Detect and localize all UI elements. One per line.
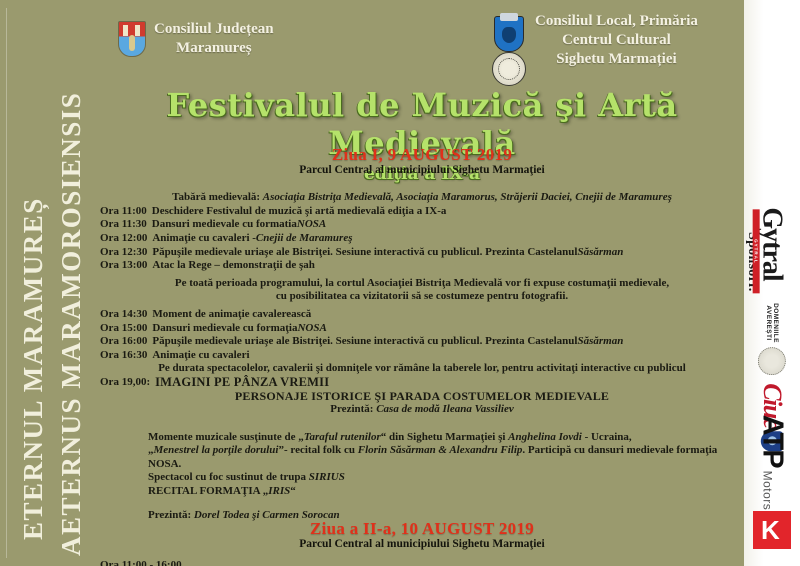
- gytral-tagline-bar: GYTRAL: [753, 209, 760, 293]
- coa-tower-right: [135, 25, 140, 36]
- local-council-emblems: [490, 12, 526, 84]
- day1-item-4-time: Ora 13:00: [100, 259, 152, 273]
- day1-item2-1-time: Ora 15:00: [100, 322, 152, 336]
- day1-item2-0-time: Ora 14:30: [100, 308, 152, 322]
- day1-item-2-text: Animaţie cu cavaleri -: [152, 232, 256, 246]
- day1-note-2: cu posibilitatea ca vizitatorii să se co…: [100, 290, 744, 304]
- day1-item-3-time: Ora 12:30: [100, 246, 152, 260]
- day2-venue: Parcul Central al municipiului Sighetu M…: [100, 538, 744, 552]
- coa-bison: [502, 27, 516, 43]
- coa-crown: [500, 13, 518, 21]
- music-l1-b: “ din Sighetu Marmaţiei şi: [381, 431, 508, 443]
- day1-evening-presenter-label: Prezintă:: [330, 403, 373, 415]
- day1-item2-2-time: Ora 16:00: [100, 335, 152, 349]
- day1-evening-time: Ora 19,00:: [100, 376, 155, 390]
- averesti-line1: DOMENIILE: [772, 303, 780, 343]
- music-l1-c: - Ucraina,: [582, 431, 632, 443]
- left-vertical-band: ETERNUL MARAMUREȘ AETERNUS MARAMOROSIENS…: [0, 0, 100, 566]
- day1-item2-3-time: Ora 16:30: [100, 349, 152, 363]
- day1-item-2: Ora 12:00 Animaţie cu cavaleri - Cnejii …: [100, 232, 744, 246]
- day1-music-line1: Momente muzicale susţinute de „Taraful r…: [148, 431, 744, 445]
- day1-camp-label: Tabără medievală:: [172, 191, 260, 203]
- day1-item-4-text: Atac la Rege – demonstraţii de şah: [152, 259, 315, 273]
- day1-item2-1-emphasis: NOSA: [297, 322, 326, 336]
- atp-wordmark: ATP: [758, 414, 787, 467]
- music-l2-it1: Menestrel la porţile dorului: [154, 444, 279, 456]
- day1-item-3: Ora 12:30 Păpuşile medievale uriaşe ale …: [100, 246, 744, 260]
- day1-music-line2: „Menestrel la porţile dorului”- recital …: [148, 444, 744, 471]
- day1-item-1: Ora 11:30 Dansuri medievale cu formatia …: [100, 218, 744, 232]
- program-content: Ziua I, 9 AUGUST 2019 Parcul Central al …: [100, 148, 744, 566]
- local-council-line2: Centrul Cultural: [535, 31, 698, 50]
- music-l1-a: Momente muzicale susţinute de „: [148, 431, 304, 443]
- averesti-wordmark: DOMENIILE AVEREȘTI: [765, 303, 780, 343]
- day1-item2-2-emphasis: Săsărman: [577, 335, 623, 349]
- day1-item-1-time: Ora 11:30: [100, 218, 152, 232]
- day1-evening-title: IMAGINI PE PÂNZA VREMII: [155, 376, 329, 390]
- k-sidetext: [756, 517, 760, 518]
- day1-item-3-text: Păpuşile medievale uriaşe ale Bistriţei.…: [152, 246, 577, 260]
- music-l3-a: Spectacol cu foc sustinut de trupa: [148, 471, 309, 483]
- sponsor-logo-gytral: Gytral GYTRAL: [744, 196, 800, 292]
- music-l3-it: SIRIUS: [309, 471, 345, 483]
- k-glyph: ⁠K: [761, 516, 780, 544]
- day1-item-3-emphasis: Săsărman: [577, 246, 623, 260]
- sponsor-logo-atp-motors: ATP Motors: [744, 412, 800, 512]
- day1-item-0: Ora 11:00 Deschidere Festivalul de muzic…: [100, 205, 744, 219]
- day1-item2-0: Ora 14:30 Moment de animaţie cavalereasc…: [100, 308, 744, 322]
- day1-evening-presenter-line: Prezintă: Casa de modă Ileana Vassiliev: [100, 403, 744, 417]
- local-council-line3: Sighetu Marmației: [535, 50, 698, 69]
- day1-venue: Parcul Central al municipiului Sighetu M…: [100, 164, 744, 178]
- wine-seal-icon: [758, 347, 786, 375]
- music-l1-it1: Taraful rutenilor: [304, 431, 381, 443]
- day1-item-1-text: Dansuri medievale cu formatia: [152, 218, 297, 232]
- day1-item2-0-text: Moment de animaţie cavalerească: [152, 308, 311, 322]
- day1-music-line4: RECITAL FORMAŢIA „IRIS“: [148, 485, 744, 499]
- day1-item2-3-text: Animaţie cu cavaleri: [152, 349, 249, 363]
- day1-item-2-time: Ora 12:00: [100, 232, 152, 246]
- county-council-label: Consiliul Județean Maramureș: [154, 20, 274, 58]
- averesti-line2: AVEREȘTI: [765, 303, 773, 343]
- festival-poster: ETERNUL MARAMUREȘ AETERNUS MARAMOROSIENS…: [0, 0, 800, 566]
- county-council-line2: Maramureș: [154, 39, 274, 58]
- day1-item-1-emphasis: NOSA: [297, 218, 326, 232]
- day1-camp-groups: Asociaţia Bistriţa Medievală, Asociaţia …: [263, 191, 672, 203]
- left-band-divider: [6, 8, 7, 558]
- local-council-label: Consiliul Local, Primăria Centrul Cultur…: [535, 12, 698, 69]
- coa-tower-left: [123, 25, 128, 36]
- music-l4-a: RECITAL FORMAŢIA „: [148, 485, 268, 497]
- day1-note-3: Pe durata spectacolelor, cavalerii şi do…: [100, 362, 744, 376]
- sponsor-logo-domeniile-averesti: DOMENIILE AVEREȘTI: [744, 300, 800, 378]
- music-l2-b: ”- recital folk cu: [279, 444, 358, 456]
- day1-evening-row: Ora 19,00: IMAGINI PE PÂNZA VREMII: [100, 376, 744, 390]
- day2-time-range: Ora 11:00 - 16:00: [100, 559, 744, 566]
- day1-item2-1: Ora 15:00 Dansuri medievale cu formaţia …: [100, 322, 744, 336]
- sponsors-band: Sponsori: Gytral GYTRAL DOMENIILE AVEREȘ…: [744, 0, 800, 566]
- maramures-county-coat-of-arms-icon: [118, 21, 146, 57]
- day1-note-1: Pe toată perioada programului, la cortul…: [100, 277, 744, 291]
- day1-item-2-emphasis: Cnejii de Maramureş: [256, 232, 353, 246]
- gytral-tagline: GYTRAL: [753, 209, 760, 293]
- music-l2-it2: Florin Săsărman & Alexandru Filip: [358, 444, 523, 456]
- day1-evening-presenter: Casa de modă Ileana Vassiliev: [376, 403, 514, 415]
- day1-music-block: Momente muzicale susţinute de „Taraful r…: [100, 431, 744, 523]
- music-l4-b: “: [290, 485, 296, 497]
- county-council-line1: Consiliul Județean: [154, 20, 274, 39]
- day1-item-0-time: Ora 11:00: [100, 205, 152, 219]
- day1-item2-1-text: Dansuri medievale cu formaţia: [152, 322, 297, 336]
- day2-heading: Ziua a II-a, 10 AUGUST 2019: [100, 522, 744, 536]
- sponsor-logo-k: ⁠K: [744, 500, 800, 560]
- local-council-logo-block: Consiliul Local, Primăria Centrul Cultur…: [490, 12, 698, 84]
- day1-evening-subtitle: PERSONAJE ISTORICE ŞI PARADA COSTUMELOR …: [100, 390, 744, 404]
- k-logo-icon: ⁠K: [753, 511, 791, 549]
- aeternus-maramorosiensis-text: AETERNUS MARAMOROSIENSIS: [56, 92, 87, 556]
- eternul-maramures-text: ETERNUL MARAMUREȘ: [18, 197, 49, 540]
- day1-camp-line: Tabără medievală: Asociaţia Bistriţa Med…: [100, 191, 744, 205]
- day1-heading: Ziua I, 9 AUGUST 2019: [100, 148, 744, 162]
- day1-item2-2-text: Păpuşile medievale uriaşe ale Bistriţei.…: [152, 335, 577, 349]
- day1-item2-3: Ora 16:30 Animaţie cu cavaleri: [100, 349, 744, 363]
- county-council-logo-block: Consiliul Județean Maramureș: [118, 20, 274, 58]
- day1-item-4: Ora 13:00 Atac la Rege – demonstraţii de…: [100, 259, 744, 273]
- music-l1-it2: Anghelina Iovdi: [508, 431, 582, 443]
- gytral-wordmark: Gytral GYTRAL: [758, 207, 786, 280]
- day1-music-line3: Spectacol cu foc sustinut de trupa SIRIU…: [148, 471, 744, 485]
- music-l4-it: IRIS: [268, 485, 290, 497]
- local-council-line1: Consiliul Local, Primăria: [535, 12, 698, 31]
- gytral-text: Gytral: [757, 207, 788, 280]
- sighetu-marmatiei-coat-of-arms-icon: [494, 16, 524, 52]
- day1-item2-2: Ora 16:00 Păpuşile medievale uriaşe ale …: [100, 335, 744, 349]
- day1-item-0-text: Deschidere Festivalul de muzică şi artă …: [152, 205, 447, 219]
- coa-center-charge: [129, 35, 135, 51]
- centrul-cultural-seal-icon: [492, 52, 526, 86]
- day1-hosts-label: Prezintă:: [148, 509, 191, 521]
